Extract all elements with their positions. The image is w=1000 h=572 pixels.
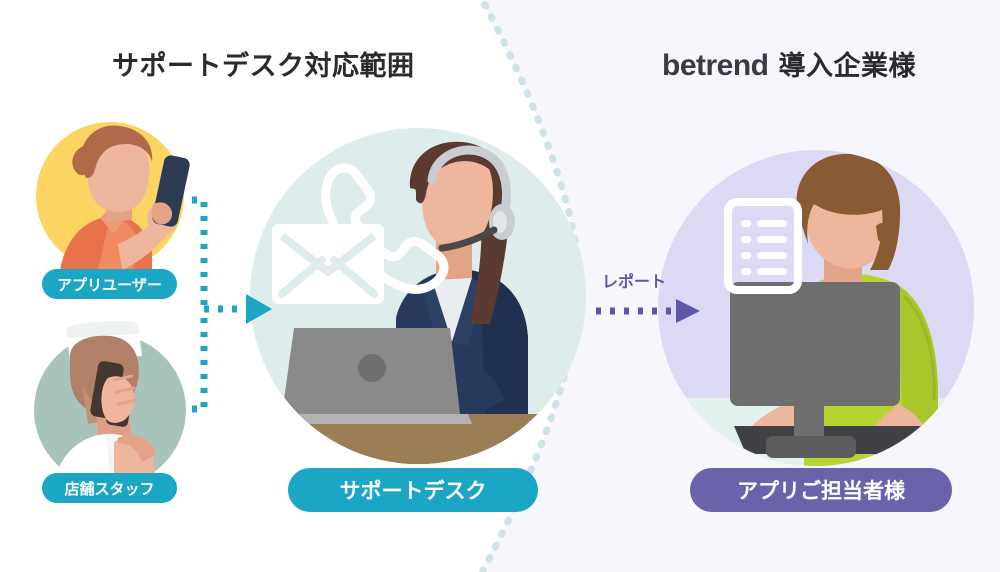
diagram-canvas: サポートデスク対応範囲 betrend 導入企業様 <box>0 0 1000 572</box>
label-support-desk: サポートデスク <box>288 468 538 512</box>
label-report: レポート <box>602 268 666 292</box>
label-shop-staff: 店舗スタッフ <box>42 473 177 503</box>
arrow-report-to-owner <box>596 299 700 323</box>
arrow-app-user-to-support <box>192 200 204 309</box>
arrow-shop-staff-to-support <box>192 309 204 409</box>
arrow-into-support-desk <box>204 294 272 324</box>
label-app-user: アプリユーザー <box>42 269 177 299</box>
label-app-owner: アプリご担当者様 <box>690 468 952 512</box>
